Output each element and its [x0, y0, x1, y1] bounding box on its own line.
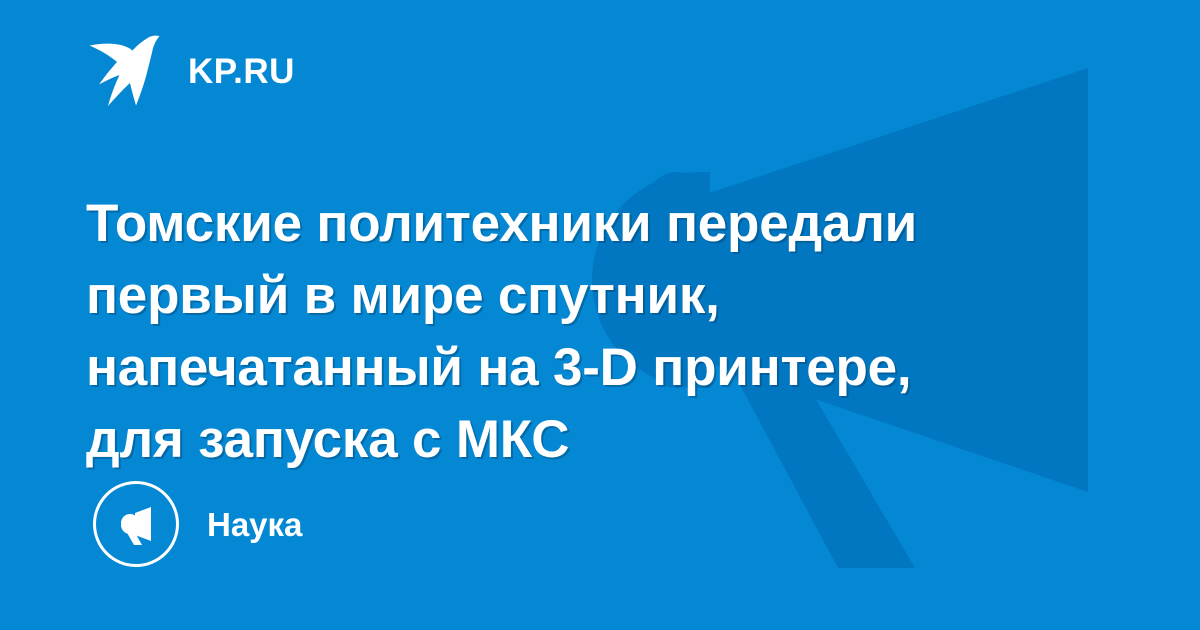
- headline-line-4: для запуска с МКС: [86, 404, 1066, 476]
- headline-line-2: первый в мире спутник,: [86, 260, 1066, 332]
- swallow-bird-icon: [88, 34, 166, 108]
- megaphone-icon-ring: [93, 481, 179, 567]
- megaphone-icon: [113, 501, 159, 547]
- site-header: KP.RU: [88, 32, 295, 110]
- page-title: Томские политехники передали первый в ми…: [86, 188, 1066, 476]
- social-share-card: KP.RU Томские политехники передали первы…: [0, 0, 1200, 630]
- brand-logo-text[interactable]: KP.RU: [188, 54, 295, 89]
- headline-line-3: напечатанный на 3-D принтере,: [86, 332, 1066, 404]
- headline-line-1: Томские политехники передали: [86, 188, 1066, 260]
- category-label[interactable]: Наука: [207, 508, 302, 541]
- category-badge[interactable]: Наука: [93, 480, 302, 568]
